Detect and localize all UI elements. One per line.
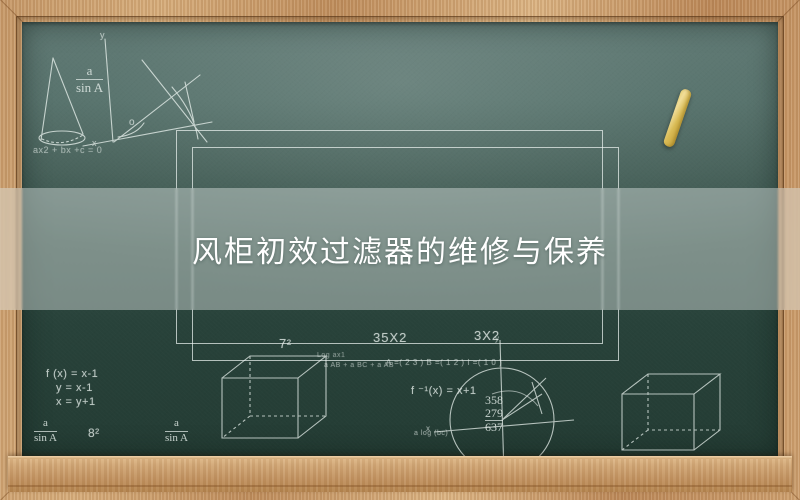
chalk-fraction-bottom-center: a sin A (165, 418, 188, 444)
chalk-ledge (8, 456, 792, 492)
chalk-axis-y-label: y (100, 30, 105, 40)
page-title: 风柜初效过滤器的维修与保养 (192, 227, 608, 271)
chalk-sum-result: 637 (485, 420, 503, 434)
chalk-inverse-function: f ⁻¹(x) = x+1 (411, 384, 477, 397)
chalk-right-axis-x: x (426, 424, 431, 433)
chalk-function-line-2: y = x-1 (56, 382, 93, 394)
chalk-fraction-bottom-left: a sin A (34, 418, 57, 444)
ledge-lip (8, 456, 792, 459)
chalk-axis-x-label: x (92, 138, 97, 148)
chalk-function-line-3: x = y+1 (56, 396, 96, 408)
chalk-function-line-1: f (x) = x-1 (46, 368, 98, 380)
chalk-fraction-top-left: a sin A (76, 64, 103, 94)
title-band: 风柜初效过滤器的维修与保养 (0, 188, 800, 310)
chalk-square-8: 8² (88, 426, 100, 440)
chalk-addend-2: 279 (485, 407, 503, 420)
chalk-expression-ab: a AB + a BC + a AB (324, 362, 394, 369)
chalk-log-expression: a log (bc) (414, 430, 448, 437)
slide-canvas: a sin A ax2 + bx +c = 0 y x o f (x) = x-… (0, 0, 800, 500)
ledge-shadow-line (8, 485, 792, 487)
chalk-addition-problem: 358 279 637 (485, 394, 503, 435)
chalk-angle-label: o (129, 117, 135, 128)
